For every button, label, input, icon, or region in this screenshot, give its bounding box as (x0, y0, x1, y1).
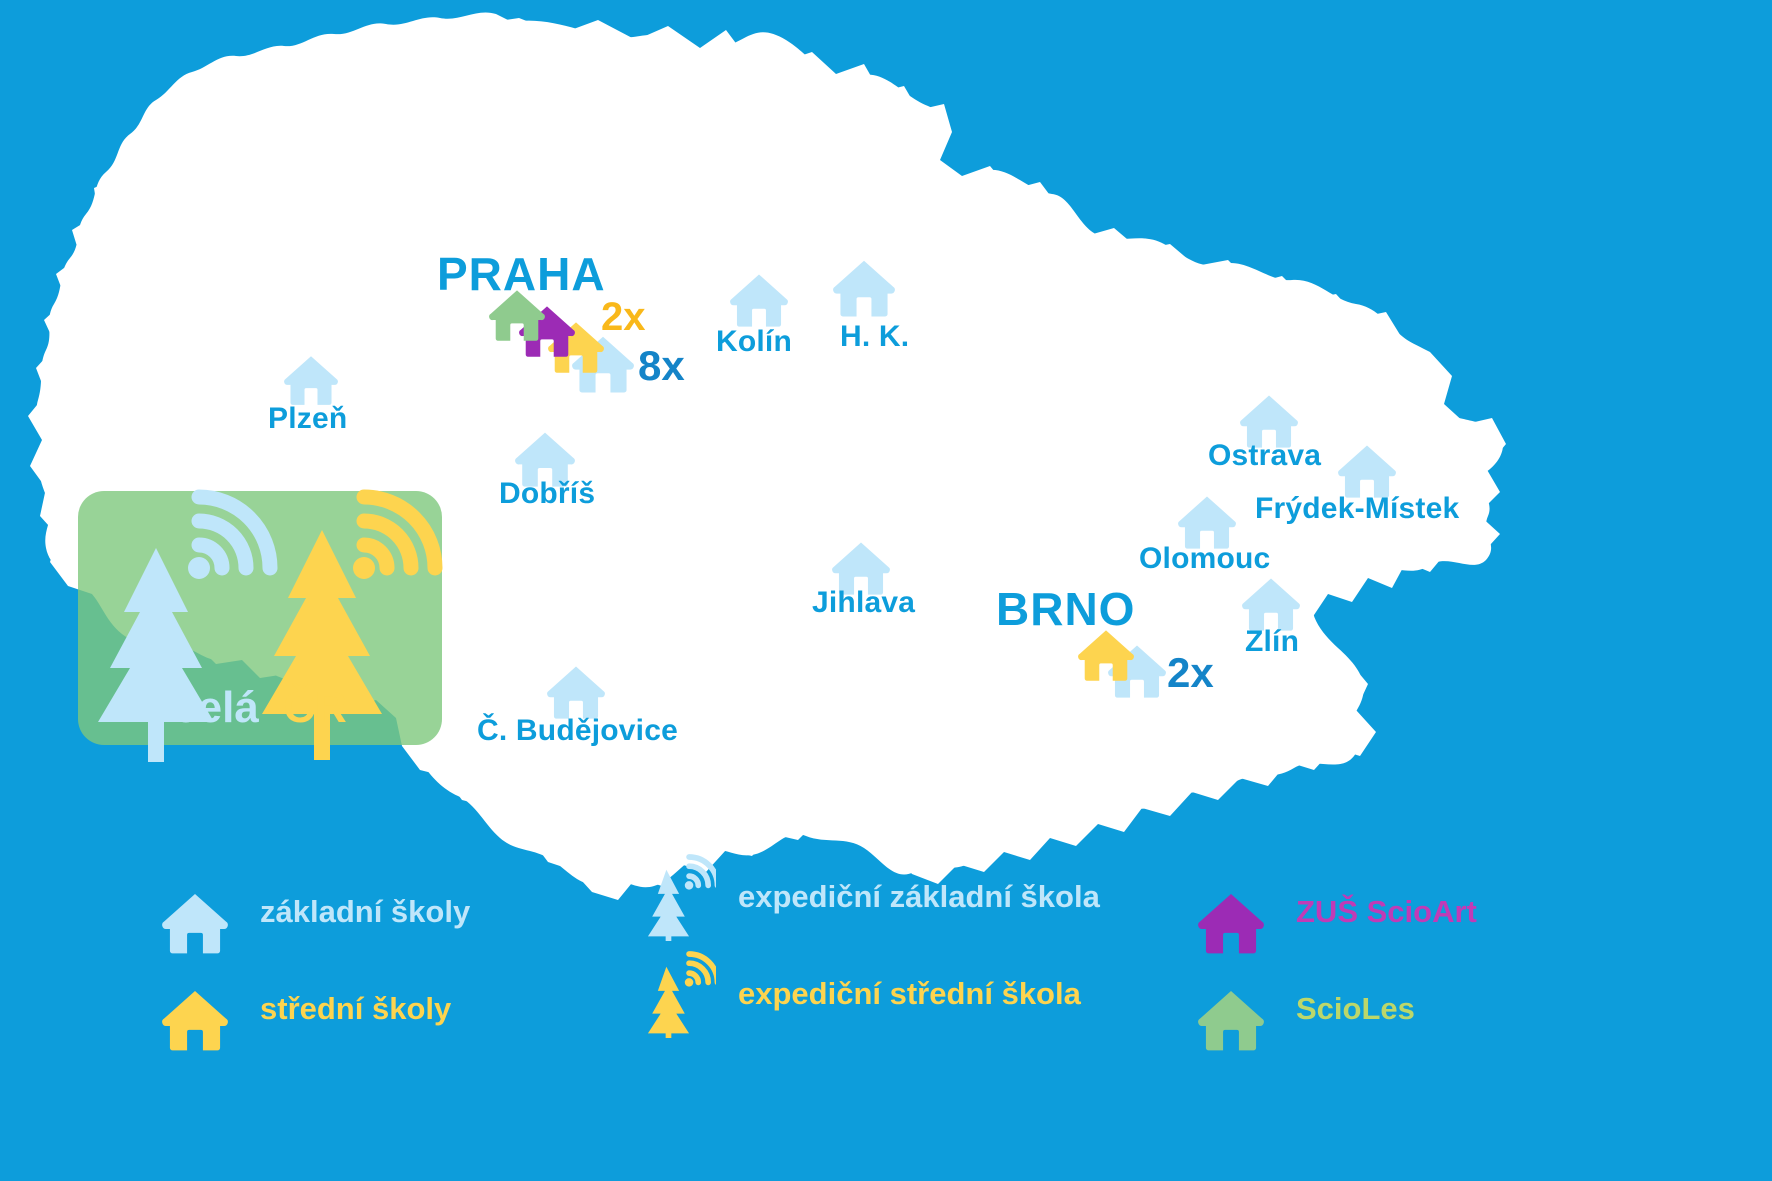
tree-signal-icon-yellow (638, 948, 716, 1038)
count-praha-blue: 8x (638, 345, 685, 387)
infographic-canvas: celá ČR PRAHA2x8x Kolín H. K. Plzeň Dobř… (0, 0, 1772, 1181)
legend-item-zus-scioart[interactable]: ZUŠ ScioArt (1196, 866, 1477, 956)
city-label-plzen: Plzeň (268, 404, 347, 434)
city-label-hradec-kralove: H. K. (840, 322, 909, 352)
legend-item-expedicni-zakladni-skola[interactable]: expediční základní škola (638, 851, 1100, 941)
wifi-signal-icon-light-blue (188, 497, 270, 579)
house-icon-light-blue (160, 866, 238, 956)
house-icon-light-blue (284, 352, 338, 408)
count-praha-yellow: 2x (601, 297, 646, 337)
house-icon-light-blue (730, 269, 788, 331)
house-icon-green (1196, 963, 1274, 1053)
count-brno-blue: 2x (1167, 652, 1214, 694)
house-icon-green (1196, 987, 1266, 1053)
house-icon-light-blue (833, 255, 895, 321)
house-icon-yellow (160, 963, 238, 1053)
city-label-kolin: Kolín (716, 327, 792, 357)
cela-cr-word-2: ČR (283, 683, 347, 732)
legend-label-scioles: ScioLes (1296, 993, 1415, 1024)
legend-label-expedicni-stredni-skola: expediční střední škola (738, 978, 1081, 1009)
city-label-cb: Č. Budějovice (477, 716, 678, 746)
tree-signal-icon-yellow (638, 948, 716, 1038)
legend-item-scioles[interactable]: ScioLes (1196, 963, 1415, 1053)
city-label-frydek-mistek: Frýdek-Místek (1255, 494, 1459, 524)
house-icon-purple (1196, 866, 1274, 956)
cela-cr-word-1: celá (173, 683, 259, 732)
house-icon-light-blue (547, 662, 605, 722)
wifi-signal-icon-yellow (353, 497, 435, 579)
legend-item-expedicni-stredni-skola[interactable]: expediční střední škola (638, 948, 1081, 1038)
legend-item-stredni-skoly[interactable]: střední školy (160, 963, 451, 1053)
city-label-praha: PRAHA (437, 251, 606, 297)
city-label-dobris: Dobříš (499, 479, 595, 509)
city-label-ostrava: Ostrava (1208, 441, 1321, 471)
legend-label-zakladni-skoly: základní školy (260, 896, 470, 927)
legend-item-zakladni-skoly[interactable]: základní školy (160, 866, 470, 956)
city-label-jihlava: Jihlava (812, 588, 915, 618)
legend-label-stredni-skoly: střední školy (260, 993, 451, 1024)
house-icon-light-blue (160, 890, 230, 956)
house-icon-yellow (160, 987, 230, 1053)
city-label-brno: BRNO (996, 586, 1135, 632)
legend-label-expedicni-zakladni-skola: expediční základní škola (738, 881, 1100, 912)
city-label-zlin: Zlín (1245, 627, 1299, 657)
tree-signal-icon-light-blue (638, 851, 716, 941)
cela-cr-label: celá ČR (78, 686, 442, 730)
tree-signal-icon-light-blue (638, 851, 716, 941)
house-icon-purple (1196, 890, 1266, 956)
legend-label-zus-scioart: ZUŠ ScioArt (1296, 896, 1477, 927)
city-label-olomouc: Olomouc (1139, 544, 1270, 574)
